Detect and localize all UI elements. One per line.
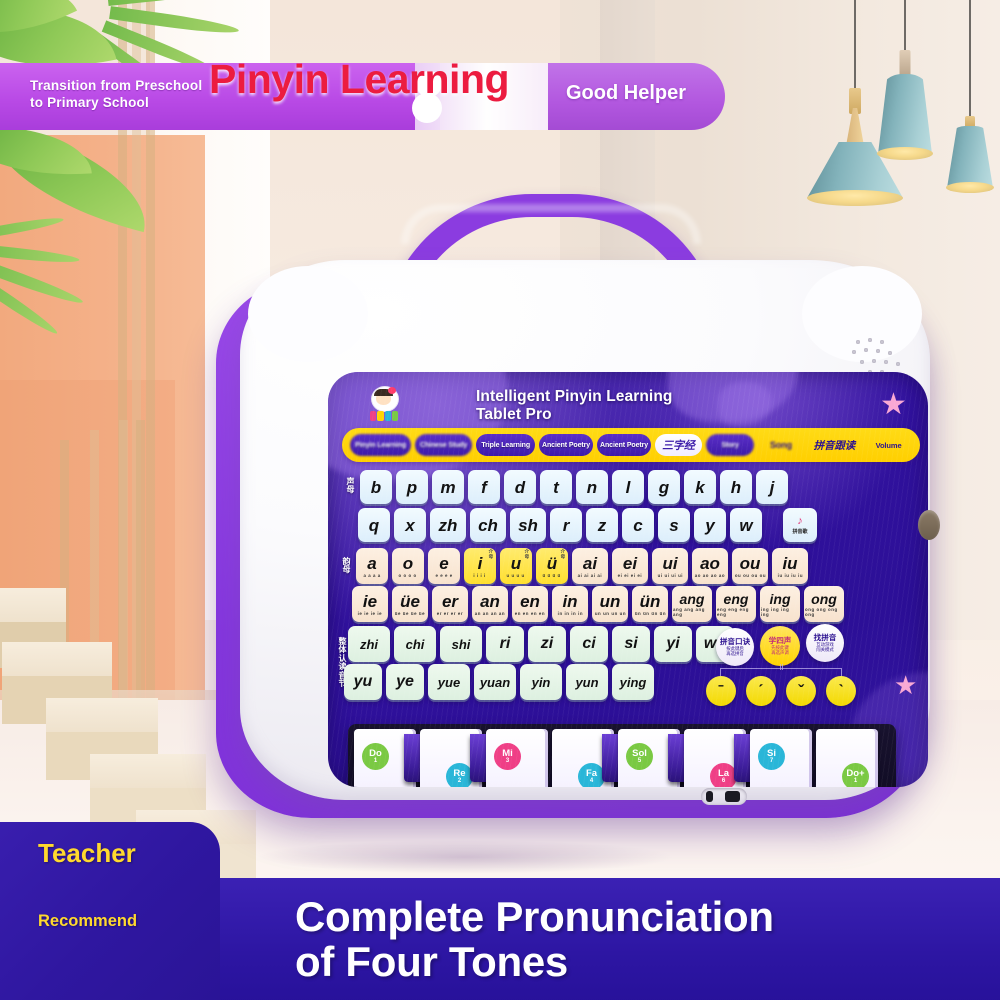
key-ü[interactable]: üü ü ü ü介母: [536, 548, 568, 584]
key-label: u: [511, 555, 521, 572]
key-label: üe: [400, 593, 420, 610]
key-label: q: [369, 517, 379, 534]
key-s[interactable]: s: [658, 508, 690, 542]
key-ci[interactable]: ci: [570, 626, 608, 662]
key-label: z: [598, 517, 607, 534]
key-label: ai: [583, 555, 597, 572]
key-n[interactable]: n: [576, 470, 608, 504]
key-label: zhi: [360, 638, 378, 651]
piano-key-Mi[interactable]: Mi3: [486, 729, 548, 787]
tone-button-group: ˉ ˊ ˇ ˋ: [706, 676, 856, 706]
decorative-star-icon: ★: [894, 672, 917, 698]
function-button-label: Chinese Study: [420, 442, 467, 449]
key-in[interactable]: inin in in in: [552, 586, 588, 622]
key-p[interactable]: p: [396, 470, 428, 504]
key-label: iu: [782, 555, 797, 572]
function-button-ancient-poetry-2[interactable]: Ancient Poetry: [597, 434, 651, 456]
key-label: f: [481, 479, 487, 496]
piano-note-number: 2: [458, 778, 461, 784]
key-tone-marks: ang ang ang ang: [673, 607, 711, 617]
key-label: p: [407, 479, 417, 496]
key-tone-marks: en en en en: [515, 611, 545, 616]
pinyin-song-key[interactable]: ♪ 拼音歌: [783, 508, 817, 542]
piano-key-Fa[interactable]: Fa4: [552, 729, 614, 787]
key-label: d: [515, 479, 525, 496]
key-label: w: [739, 517, 752, 534]
function-button-label: 三字经: [662, 437, 695, 453]
key-label: b: [371, 479, 381, 496]
key-tone-marks: ui ui ui ui: [657, 573, 682, 578]
key-r[interactable]: r: [550, 508, 582, 542]
key-tone-marks: ou ou ou ou: [734, 573, 765, 578]
key-sh[interactable]: sh: [510, 508, 546, 542]
key-shi[interactable]: shi: [440, 626, 482, 662]
key-üe[interactable]: üeüe üe üe üe: [392, 586, 428, 622]
key-zi[interactable]: zi: [528, 626, 566, 662]
key-ri[interactable]: ri: [486, 626, 524, 662]
piano-note-number: 1: [854, 778, 857, 784]
key-en[interactable]: enen en en en: [512, 586, 548, 622]
piano-note-badge: Si7: [758, 743, 785, 770]
piano-note-name: Do: [369, 749, 382, 759]
key-label: r: [563, 517, 570, 534]
panel-blob: [328, 372, 508, 482]
volume-dial[interactable]: [918, 510, 940, 540]
tone-2-rising-button[interactable]: ˊ: [746, 676, 776, 706]
key-label: yuan: [480, 676, 510, 689]
piano-key-Do-plus[interactable]: Do+1: [816, 729, 878, 787]
feature-title: 拼音口诀: [720, 638, 750, 646]
key-a[interactable]: aa a a a: [356, 548, 388, 584]
body-ear-left: [248, 266, 368, 362]
key-ün[interactable]: ünün ün ün ün: [632, 586, 668, 622]
piano-key-Re[interactable]: Re2: [420, 729, 482, 787]
key-label: chi: [406, 638, 425, 651]
key-medial-tag: 介母: [525, 550, 529, 559]
key-label: in: [562, 593, 577, 610]
piano-note-number: 1: [374, 758, 377, 764]
key-label: ch: [478, 517, 498, 534]
function-button-label: Volume: [876, 441, 902, 450]
handle-highlight: [401, 204, 701, 244]
key-label: a: [367, 555, 376, 572]
key-label: ün: [640, 593, 661, 610]
key-an[interactable]: anan an an an: [472, 586, 508, 622]
key-label: ci: [582, 636, 595, 652]
key-tone-marks: a a a a: [363, 573, 380, 578]
function-button-pinyin-follow-read[interactable]: 拼音跟读: [808, 434, 862, 456]
key-label: ao: [700, 555, 720, 572]
key-label: wu: [704, 636, 726, 652]
tone-3-dipping-button[interactable]: ˇ: [786, 676, 816, 706]
pinyin-song-label: 拼音歌: [792, 528, 807, 535]
bottom-headline: Complete Pronunciationof Four Tones: [295, 895, 774, 985]
key-tone-marks: ing ing ing ing: [761, 607, 799, 617]
piano-note-badge: La6: [710, 763, 737, 787]
key-tone-marks: ai ai ai ai: [578, 573, 602, 578]
key-si[interactable]: si: [612, 626, 650, 662]
key-label: eng: [724, 592, 749, 606]
key-tone-marks: ong ong ong ong: [805, 607, 843, 617]
key-ei[interactable]: eiei ei ei ei: [612, 548, 648, 584]
piano-key-Si[interactable]: Si7: [750, 729, 812, 787]
key-z[interactable]: z: [586, 508, 618, 542]
key-medial-tag: 介母: [561, 550, 565, 559]
key-label: l: [626, 479, 631, 496]
key-ui[interactable]: uiui ui ui ui: [652, 548, 688, 584]
device-white-body: Intelligent Pinyin LearningTablet Pro ★ …: [240, 260, 930, 800]
key-label: n: [587, 479, 597, 496]
key-ie[interactable]: ieie ie ie ie: [352, 586, 388, 622]
key-d[interactable]: d: [504, 470, 536, 504]
key-tone-marks: üe üe üe üe: [395, 611, 425, 616]
key-tone-marks: in in in in: [557, 611, 582, 616]
key-label: o: [403, 555, 413, 572]
function-button-volume[interactable]: Volume: [865, 434, 912, 456]
key-ch[interactable]: ch: [470, 508, 506, 542]
panel-blob: [848, 672, 928, 787]
feature-sub: 先按此键再选声调: [771, 646, 789, 656]
panel-blob: [718, 382, 772, 426]
key-c[interactable]: c: [622, 508, 654, 542]
key-tone-marks: o o o o: [399, 573, 417, 578]
key-ying[interactable]: ying: [612, 664, 654, 700]
key-yi[interactable]: yi: [654, 626, 692, 662]
piano-note-number: 7: [770, 758, 773, 764]
key-label: un: [600, 593, 621, 610]
key-w[interactable]: w: [730, 508, 762, 542]
top-banner-right-label: Good Helper: [566, 82, 686, 105]
key-label: zi: [541, 636, 553, 652]
key-label: ui: [662, 555, 677, 572]
key-o[interactable]: oo o o o: [392, 548, 424, 584]
piano-key-Sol[interactable]: Sol5: [618, 729, 680, 787]
row-label-whole-syllables: 整体认读音节: [336, 638, 349, 688]
key-yuan[interactable]: yuan: [474, 664, 516, 700]
piano-note-name: Re: [453, 769, 465, 779]
badge-line-1: Teacher: [38, 838, 136, 869]
key-label: ing: [770, 592, 791, 606]
piano-note-badge: Mi3: [494, 743, 521, 770]
piano-key-Do[interactable]: Do1: [354, 729, 416, 787]
key-ai[interactable]: aiai ai ai ai: [572, 548, 608, 584]
function-button-story[interactable]: Story: [706, 434, 755, 456]
key-label: zh: [439, 517, 458, 534]
key-label: c: [633, 517, 642, 534]
feature-button-find-pinyin[interactable]: 找拼音 互动游戏闯关模式: [806, 624, 844, 662]
key-label: en: [520, 593, 540, 610]
keyboard-row-whole-2: yuyeyueyuanyinyunying: [344, 664, 654, 700]
key-label: ie: [363, 593, 377, 610]
piano-black-key[interactable]: [470, 734, 492, 782]
key-tone-marks: ao ao ao ao: [695, 573, 725, 578]
piano-white-keys: Do1Re2Mi3Fa4Sol5La6Si7Do+1: [354, 729, 878, 787]
key-tone-marks: ün ün ün ün: [634, 611, 665, 616]
piano-note-badge: Fa4: [578, 763, 605, 787]
function-button-label: Pinyin Learning: [355, 442, 406, 449]
piano-note-name: Sol: [632, 749, 647, 759]
feature-sub: 互动游戏闯关模式: [816, 643, 834, 653]
function-button-label: Ancient Poetry: [542, 442, 590, 449]
function-button-label: Triple Learning: [481, 442, 530, 449]
key-yue[interactable]: yue: [428, 664, 470, 700]
key-label: yun: [575, 676, 598, 689]
feature-sub: 按此键后再选拼音: [726, 647, 744, 657]
key-label: t: [553, 479, 559, 496]
key-label: ou: [740, 555, 761, 572]
key-label: y: [705, 517, 714, 534]
piano-key-La[interactable]: La6: [684, 729, 746, 787]
key-tone-marks: un un un un: [594, 611, 625, 616]
row-label-finals: 韵母: [340, 558, 353, 575]
key-tone-marks: eng eng eng eng: [717, 607, 755, 617]
key-er[interactable]: erer er er er: [432, 586, 468, 622]
piano-note-badge: Do+1: [842, 763, 869, 787]
key-label: m: [440, 479, 455, 496]
key-label: si: [624, 636, 637, 652]
feature-button-pinyin-formula[interactable]: 拼音口诀 按此键后再选拼音: [716, 628, 754, 666]
key-zh[interactable]: zh: [430, 508, 466, 542]
device-title: Intelligent Pinyin LearningTablet Pro: [476, 388, 806, 425]
piano-black-key[interactable]: [734, 734, 756, 782]
decorative-star-icon: ★: [880, 390, 907, 420]
key-t[interactable]: t: [540, 470, 572, 504]
product-poster: Intelligent Pinyin LearningTablet Pro ★ …: [0, 0, 1000, 1000]
piano-note-name: Si: [767, 749, 776, 759]
key-label: ye: [396, 674, 414, 690]
panel-blob: [668, 372, 798, 422]
key-label: yu: [354, 674, 373, 690]
key-b[interactable]: b: [360, 470, 392, 504]
key-tone-marks: ü ü ü ü: [543, 573, 561, 578]
function-button-label: Ancient Poetry: [600, 442, 648, 449]
function-button-chinese-study[interactable]: Chinese Study: [415, 434, 472, 456]
key-label: yin: [532, 676, 551, 689]
key-ao[interactable]: aoao ao ao ao: [692, 548, 728, 584]
key-ang[interactable]: angang ang ang ang: [672, 586, 712, 622]
key-tone-marks: ie ie ie ie: [358, 611, 382, 616]
key-tone-marks: u u u u: [507, 573, 525, 578]
row-label-initials: 声母: [344, 478, 357, 495]
palm-leaf-bottom: [0, 215, 130, 325]
key-zhi[interactable]: zhi: [348, 626, 390, 662]
key-label: ang: [680, 592, 705, 606]
tone-bracket-stem: [780, 664, 783, 670]
key-label: shi: [452, 638, 471, 651]
tone-4-falling-button[interactable]: ˋ: [826, 676, 856, 706]
feature-button-learn-four-tones[interactable]: 学四声 先按此键再选声调: [760, 626, 800, 666]
function-button-label: 拼音跟读: [814, 438, 856, 453]
key-label: an: [480, 593, 500, 610]
poster-title: Pinyin Learning: [209, 56, 509, 103]
key-yin[interactable]: yin: [520, 664, 562, 700]
key-l[interactable]: l: [612, 470, 644, 504]
piano-note-number: 4: [590, 778, 593, 784]
piano-black-key[interactable]: [668, 734, 690, 782]
key-label: k: [695, 479, 704, 496]
function-button-sanzijing[interactable]: 三字经: [655, 434, 702, 456]
music-note-icon: ♪: [797, 516, 803, 527]
key-label: yue: [438, 676, 460, 689]
key-tone-marks: e e e e: [435, 573, 452, 578]
key-label: h: [731, 479, 741, 496]
key-label: ei: [623, 555, 637, 572]
function-button-pinyin-learning[interactable]: Pinyin Learning: [350, 434, 411, 456]
decorative-star-icon: ★: [350, 664, 372, 688]
key-q[interactable]: q: [358, 508, 390, 542]
key-iu[interactable]: iuiu iu iu iu: [772, 548, 808, 584]
power-switch[interactable]: [701, 788, 747, 805]
piano-note-number: 5: [638, 758, 641, 764]
key-tone-marks: ei ei ei ei: [618, 573, 642, 578]
tone-1-flat-button[interactable]: ˉ: [706, 676, 736, 706]
key-x[interactable]: x: [394, 508, 426, 542]
key-y[interactable]: y: [694, 508, 726, 542]
piano-keyboard: Do1Re2Mi3Fa4Sol5La6Si7Do+1: [348, 724, 896, 787]
key-label: sh: [518, 517, 538, 534]
key-yu[interactable]: yu: [344, 664, 382, 700]
key-label: er: [442, 593, 458, 610]
key-tone-marks: an an an an: [475, 611, 505, 616]
key-medial-tag: 介母: [489, 550, 493, 559]
key-label: ri: [500, 636, 511, 652]
key-u[interactable]: uu u u u介母: [500, 548, 532, 584]
key-ong[interactable]: ongong ong ong ong: [804, 586, 844, 622]
tone-bracket: [720, 668, 842, 679]
pinyin-learning-tablet: Intelligent Pinyin LearningTablet Pro ★ …: [196, 190, 936, 850]
key-g[interactable]: g: [648, 470, 680, 504]
key-ye[interactable]: ye: [386, 664, 424, 700]
pendant-lamp-small: [930, 0, 1000, 205]
key-label: yi: [666, 636, 679, 652]
key-tone-marks: i i i i: [474, 573, 486, 578]
key-eng[interactable]: engeng eng eng eng: [716, 586, 756, 622]
piano-black-key[interactable]: [602, 734, 624, 782]
keyboard-row-initials-1: bpmfdtnlgkhj: [360, 470, 788, 504]
key-label: ü: [547, 555, 557, 572]
key-tone-marks: iu iu iu iu: [777, 573, 802, 578]
key-label: g: [659, 479, 669, 496]
feature-title: 找拼音: [814, 634, 837, 642]
piano-note-name: La: [718, 769, 729, 779]
piano-note-number: 3: [506, 758, 509, 764]
key-f[interactable]: f: [468, 470, 500, 504]
key-yun[interactable]: yun: [566, 664, 608, 700]
piano-note-badge: Re2: [446, 763, 473, 787]
key-ing[interactable]: inging ing ing ing: [760, 586, 800, 622]
function-button-bar: Pinyin Learning Chinese Study Triple Lea…: [342, 428, 920, 462]
keyboard-row-finals-2: ieie ie ie ieüeüe üe üe üeerer er er era…: [352, 586, 844, 622]
key-un[interactable]: unun un un un: [592, 586, 628, 622]
key-label: i: [478, 555, 483, 572]
key-i[interactable]: ii i i i介母: [464, 548, 496, 584]
function-button-label: Story: [721, 442, 738, 449]
piano-note-name: Fa: [586, 769, 597, 779]
piano-note-name: Mi: [502, 749, 513, 759]
key-label: ong: [811, 592, 837, 606]
piano-note-number: 6: [722, 778, 725, 784]
feature-title: 学四声: [769, 637, 792, 645]
badge-line-2: Recommend: [38, 912, 137, 931]
key-wu[interactable]: wu: [696, 626, 734, 662]
brand-logo-icon: [368, 386, 400, 422]
device-front-panel: Intelligent Pinyin LearningTablet Pro ★ …: [328, 372, 928, 787]
keyboard-area: 声母 韵母 整体认读音节 bpmfdtnlgkhj qxzhchshrzcsyw…: [328, 468, 928, 718]
key-label: x: [405, 517, 414, 534]
function-button-ancient-poetry-1[interactable]: Ancient Poetry: [539, 434, 593, 456]
keyboard-row-whole-1: zhichishirizicisiyiwu: [348, 626, 734, 662]
key-label: e: [439, 555, 448, 572]
function-button-triple-learning[interactable]: Triple Learning: [476, 434, 535, 456]
key-chi[interactable]: chi: [394, 626, 436, 662]
key-label: s: [669, 517, 678, 534]
function-button-label: Song: [770, 440, 792, 450]
keyboard-row-initials-2: qxzhchshrzcsyw: [358, 508, 762, 542]
key-tone-marks: er er er er: [437, 611, 463, 616]
key-j[interactable]: j: [756, 470, 788, 504]
piano-note-badge: Sol5: [626, 743, 653, 770]
piano-note-badge: Do1: [362, 743, 389, 770]
piano-note-name: Do+: [846, 769, 864, 779]
key-h[interactable]: h: [720, 470, 752, 504]
key-label: j: [770, 479, 775, 496]
piano-black-key[interactable]: [404, 734, 426, 782]
keyboard-row-finals-1: aa a a aoo o o oee e e eii i i i介母uu u u…: [356, 548, 808, 584]
key-label: ying: [620, 676, 647, 689]
key-k[interactable]: k: [684, 470, 716, 504]
key-m[interactable]: m: [432, 470, 464, 504]
key-ou[interactable]: ouou ou ou ou: [732, 548, 768, 584]
function-button-song[interactable]: Song: [758, 434, 803, 456]
key-e[interactable]: ee e e e: [428, 548, 460, 584]
